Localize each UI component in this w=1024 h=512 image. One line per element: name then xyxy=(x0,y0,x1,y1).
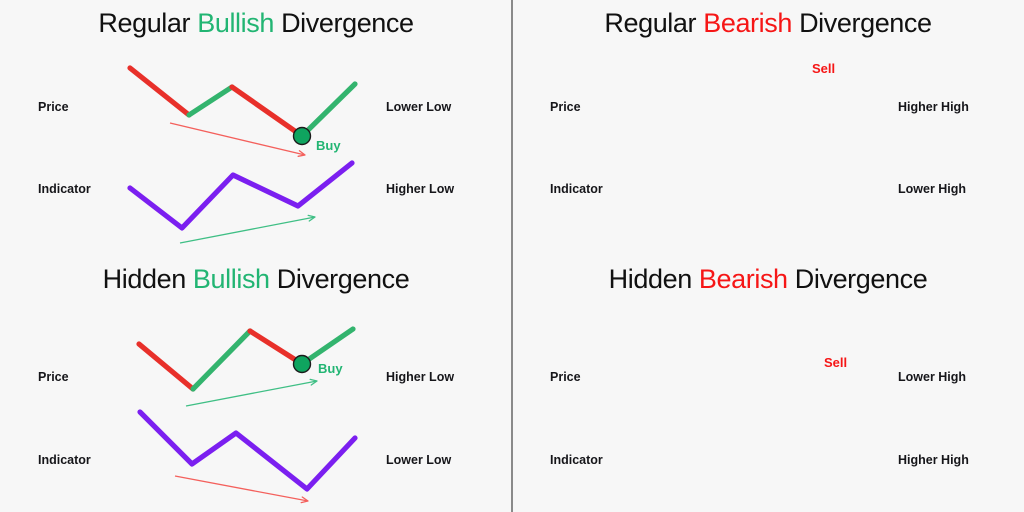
price-segment-down xyxy=(250,331,302,364)
price-segment-up xyxy=(189,87,232,115)
label-price-left: Price xyxy=(38,370,69,384)
signal-marker-buy[interactable] xyxy=(294,128,311,145)
panel-hidden-bullish: Hidden Bullish Divergence Price Higher L… xyxy=(0,256,512,512)
divergence-infographic: Regular Bullish Divergence Price Lower L… xyxy=(0,0,1024,512)
label-price-left: Price xyxy=(550,100,581,114)
signal-label-sell: Sell xyxy=(824,355,847,370)
label-indicator-left: Indicator xyxy=(38,182,91,196)
label-price-right: Higher High xyxy=(898,100,969,114)
label-indicator-right: Lower High xyxy=(898,182,966,196)
trendline-up xyxy=(180,217,315,243)
price-segment-up xyxy=(302,84,355,136)
price-segment-up xyxy=(193,331,250,389)
label-price-right: Lower Low xyxy=(386,100,451,114)
label-price-right: Lower High xyxy=(898,370,966,384)
signal-label-buy: Buy xyxy=(316,138,341,153)
chart-hidden-bullish xyxy=(0,256,512,512)
panel-hidden-bearish: Hidden Bearish Divergence Price Lower Hi… xyxy=(512,256,1024,512)
panel-regular-bearish: Regular Bearish Divergence Price Higher … xyxy=(512,0,1024,256)
label-price-right: Higher Low xyxy=(386,370,454,384)
price-segment-down xyxy=(139,344,193,389)
signal-marker-buy[interactable] xyxy=(294,356,311,373)
label-indicator-right: Higher Low xyxy=(386,182,454,196)
label-indicator-right: Higher High xyxy=(898,453,969,467)
chart-hidden-bearish xyxy=(512,256,1024,512)
indicator-line xyxy=(130,163,352,228)
chart-regular-bearish xyxy=(512,0,1024,256)
label-indicator-right: Lower Low xyxy=(386,453,451,467)
price-segment-up xyxy=(302,329,353,364)
trendline-down xyxy=(170,123,305,155)
signal-label-buy: Buy xyxy=(318,361,343,376)
price-segment-down xyxy=(232,87,302,136)
label-indicator-left: Indicator xyxy=(550,182,603,196)
label-indicator-left: Indicator xyxy=(550,453,603,467)
chart-regular-bullish xyxy=(0,0,512,256)
label-indicator-left: Indicator xyxy=(38,453,91,467)
signal-label-sell: Sell xyxy=(812,61,835,76)
panel-regular-bullish: Regular Bullish Divergence Price Lower L… xyxy=(0,0,512,256)
trendline-up xyxy=(186,381,317,406)
label-price-left: Price xyxy=(38,100,69,114)
trendline-down xyxy=(175,476,308,501)
label-price-left: Price xyxy=(550,370,581,384)
indicator-line xyxy=(140,412,355,489)
price-segment-down xyxy=(130,68,189,115)
